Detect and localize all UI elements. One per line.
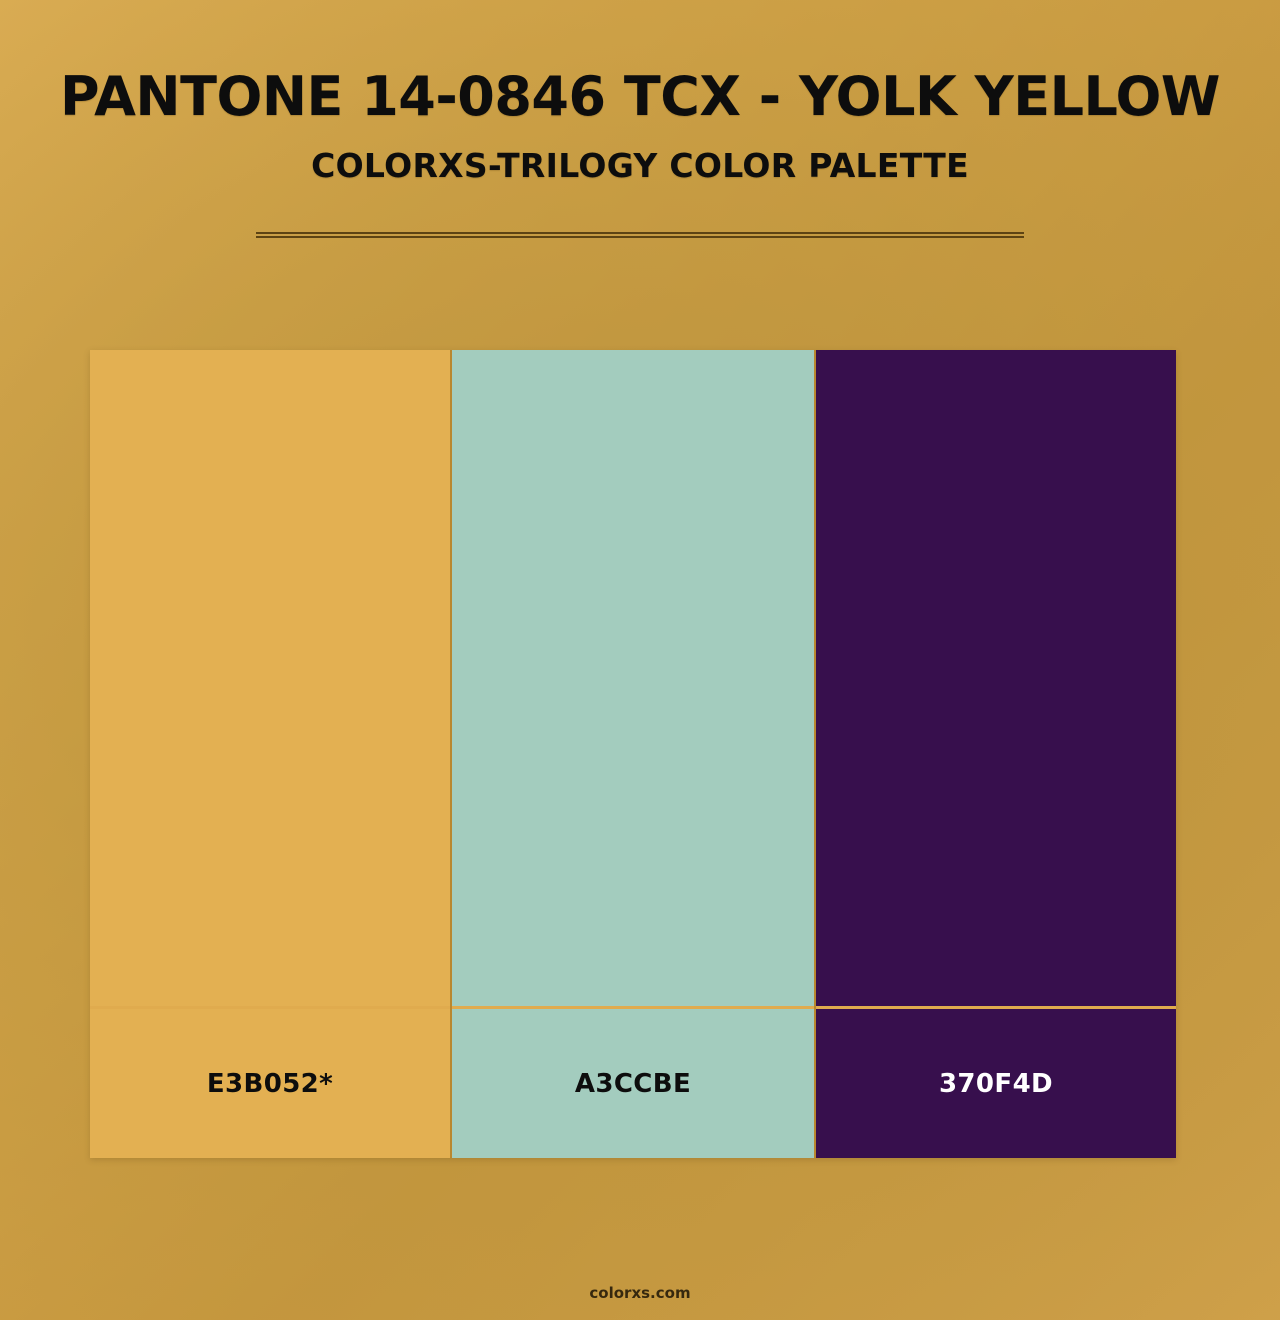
swatch-label-band-1: A3CCBE	[452, 1009, 814, 1158]
swatch-color-block-2[interactable]	[816, 350, 1176, 1006]
footer-site-name: colorxs.com	[589, 1284, 690, 1302]
swatch-hex-label-0: E3B052*	[207, 1069, 333, 1099]
color-swatch-1[interactable]: A3CCBE	[450, 350, 814, 1158]
divider-line-top	[256, 232, 1024, 234]
swatch-label-band-2: 370F4D	[816, 1009, 1176, 1158]
page-footer: colorxs.com	[0, 1283, 1280, 1302]
swatch-color-block-1[interactable]	[452, 350, 814, 1006]
palette-page: PANTONE 14-0846 TCX - YOLK YELLOW COLORX…	[0, 0, 1280, 1320]
color-swatch-0[interactable]: E3B052*	[90, 350, 450, 1158]
color-swatch-2[interactable]: 370F4D	[814, 350, 1176, 1158]
page-title: PANTONE 14-0846 TCX - YOLK YELLOW	[0, 0, 1280, 128]
page-header: PANTONE 14-0846 TCX - YOLK YELLOW COLORX…	[0, 0, 1280, 186]
swatch-label-band-0: E3B052*	[90, 1009, 450, 1158]
header-divider	[256, 232, 1024, 238]
swatch-color-block-0[interactable]	[90, 350, 450, 1006]
divider-line-bottom	[256, 236, 1024, 238]
page-subtitle: COLORXS-TRILOGY COLOR PALETTE	[0, 128, 1280, 186]
swatch-hex-label-2: 370F4D	[939, 1069, 1053, 1099]
color-palette: E3B052* A3CCBE 370F4D	[90, 350, 1176, 1158]
swatch-hex-label-1: A3CCBE	[575, 1069, 691, 1099]
